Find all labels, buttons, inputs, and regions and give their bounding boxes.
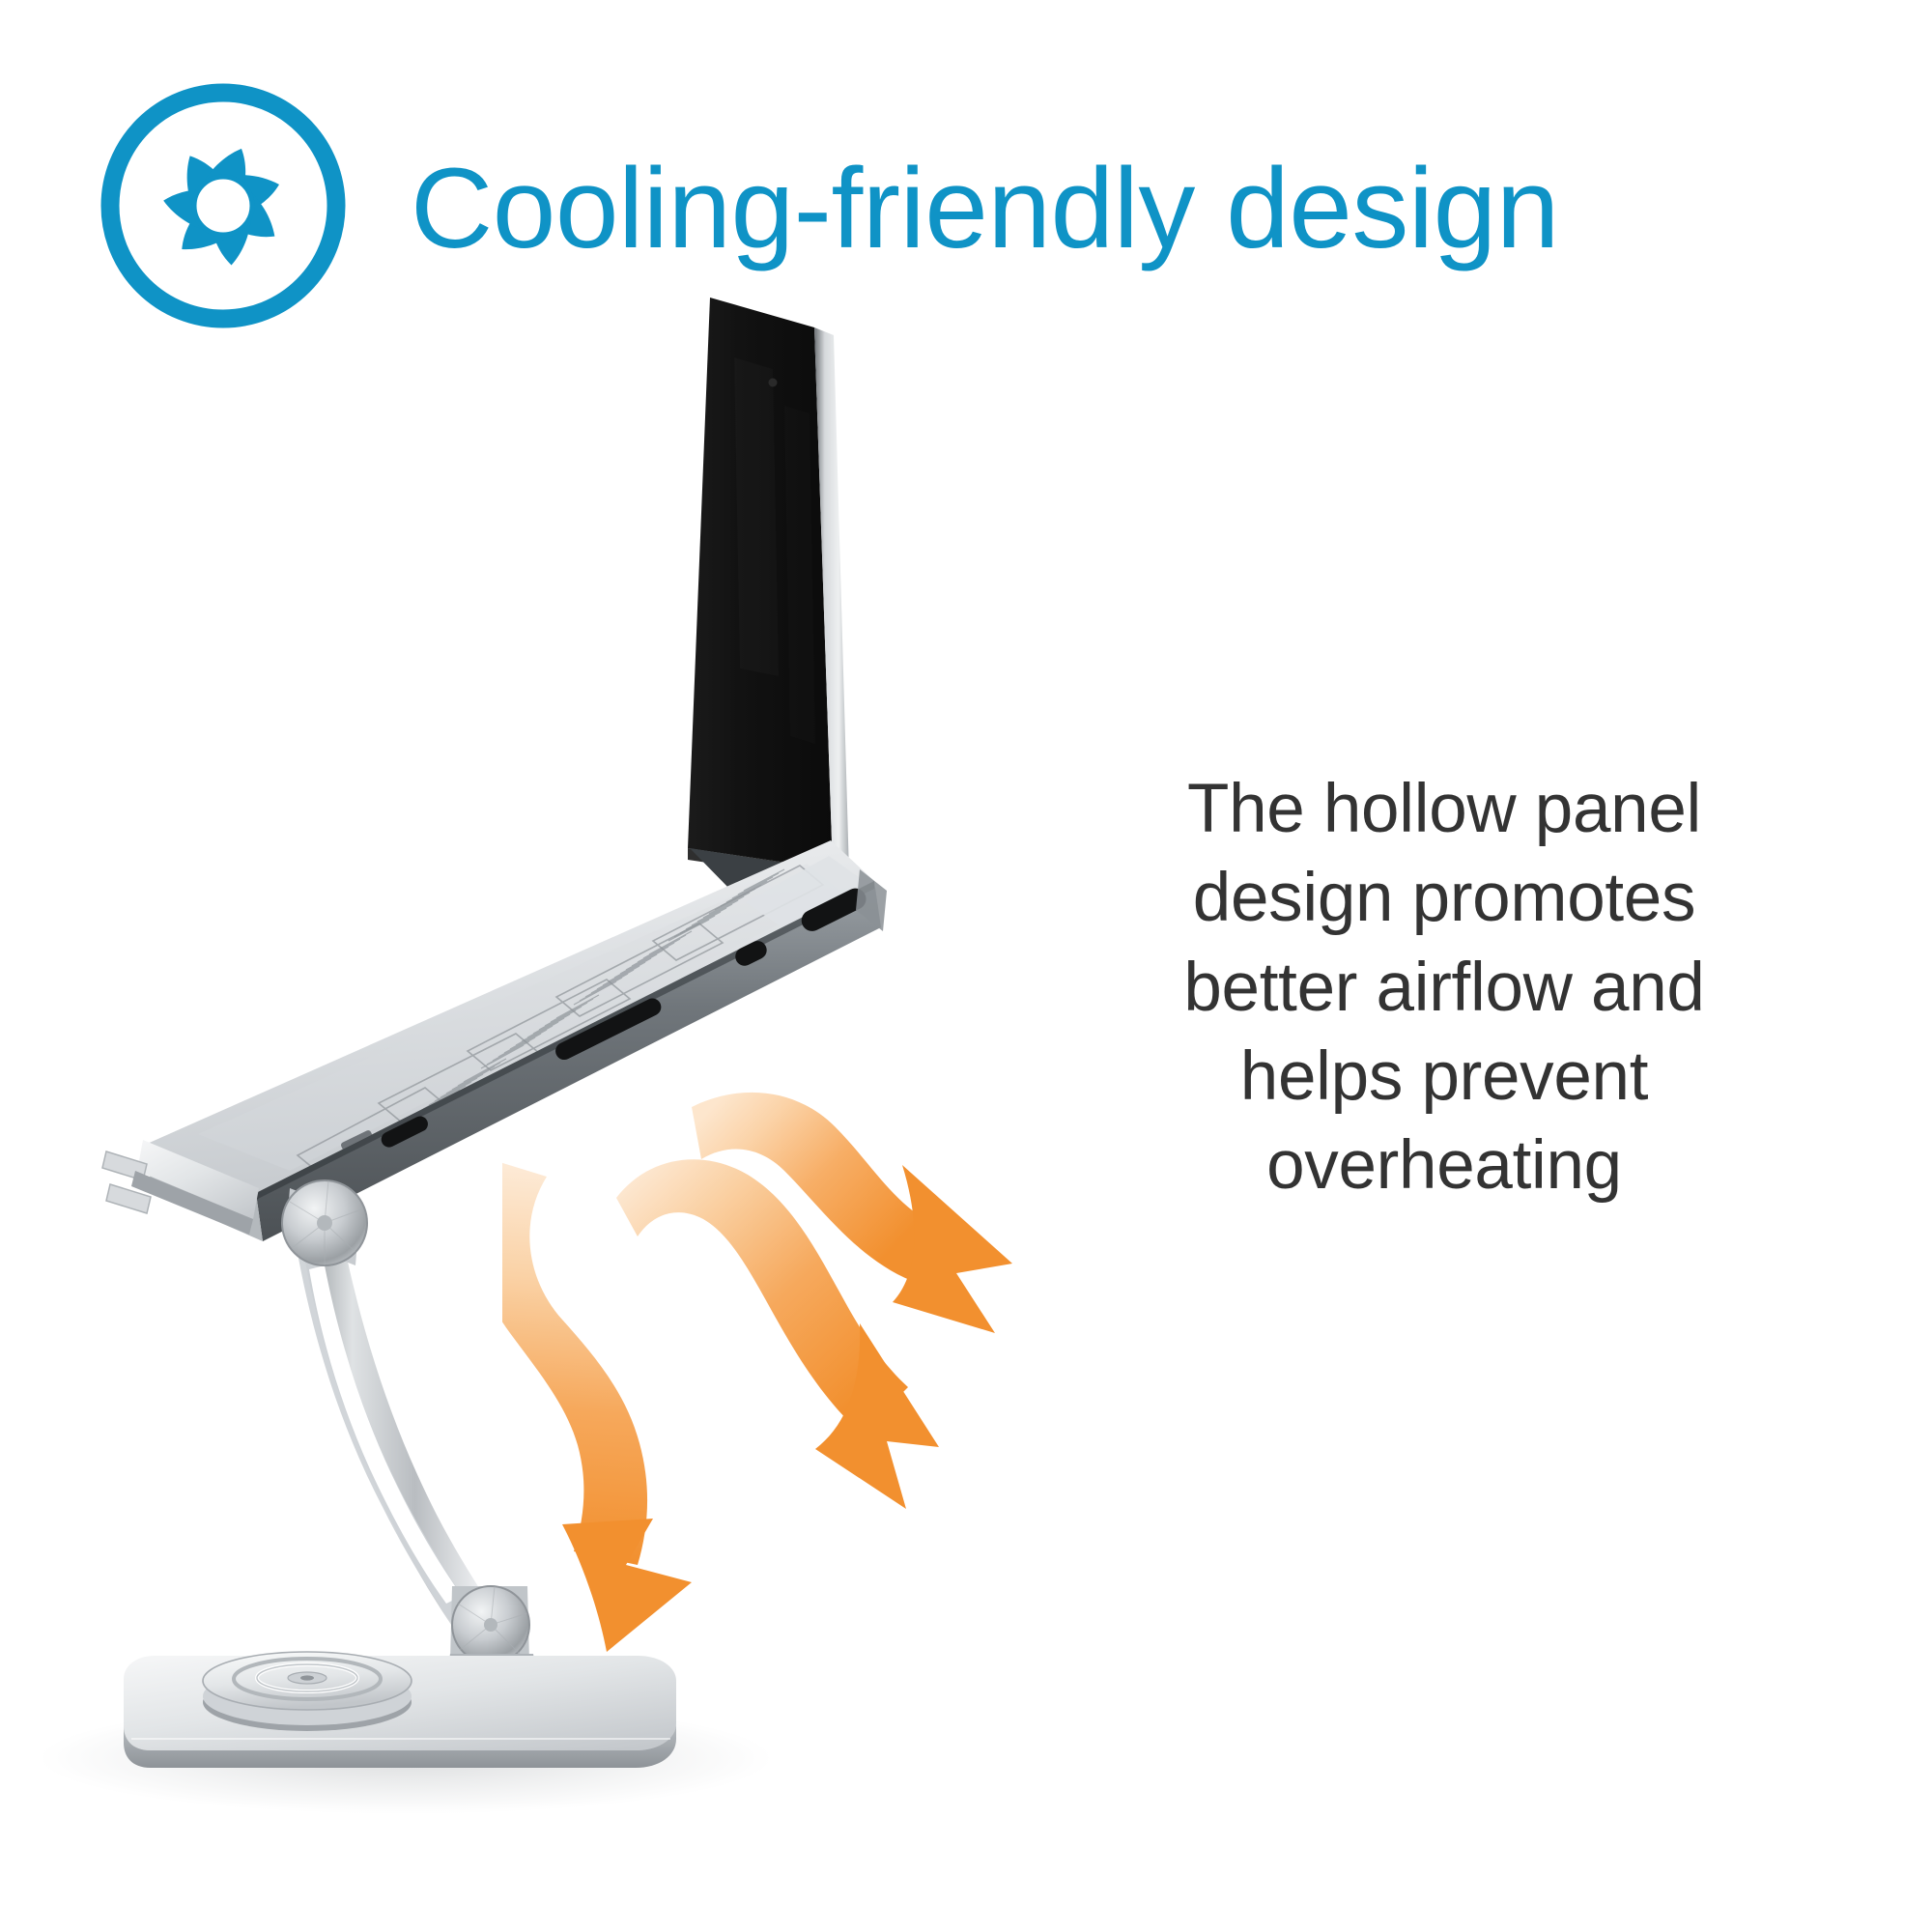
body-copy-line-1: The hollow panel	[1048, 765, 1840, 854]
page-title: Cooling-friendly design	[411, 152, 1734, 266]
laptop-lid	[688, 298, 849, 881]
rotating-swivel-disc	[203, 1652, 412, 1731]
upper-pivot-knuckle	[282, 1180, 367, 1265]
body-copy-line-2: design promotes	[1048, 854, 1840, 943]
laptop-body	[145, 840, 887, 1241]
hollow-vent-panel	[198, 856, 869, 1179]
marketing-graphic-canvas: Cooling-friendly design	[0, 0, 1932, 1932]
stand-base	[39, 1652, 773, 1814]
body-copy-line-4: helps prevent	[1048, 1033, 1840, 1122]
body-copy-line-5: overheating	[1048, 1122, 1840, 1210]
body-copy: The hollow panel design promotes better …	[1048, 765, 1840, 1210]
stand-arm	[282, 1180, 537, 1677]
body-copy-line-3: better airflow and	[1048, 944, 1840, 1033]
